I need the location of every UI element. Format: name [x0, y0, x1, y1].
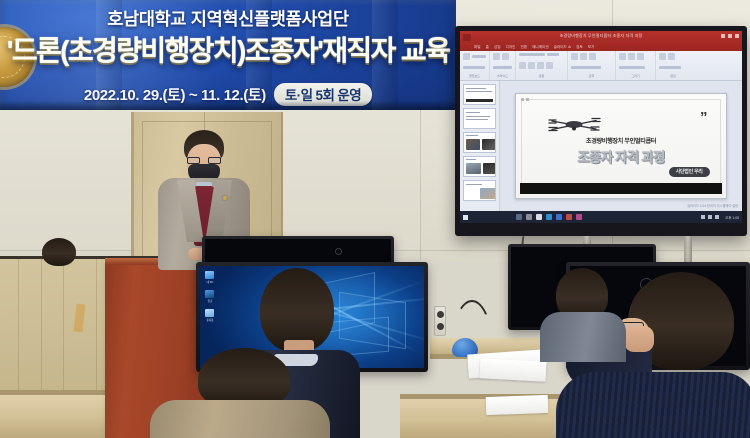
banner-organization: 호남대학교 지역혁신플랫폼사업단	[0, 6, 456, 31]
taskbar-app-icon[interactable]	[536, 214, 542, 220]
slide-quote-mark: ”	[700, 113, 708, 124]
ribbon-group-label: 글꼴	[519, 74, 564, 78]
ribbon-tab[interactable]: 디자인	[506, 45, 516, 50]
status-bar-note: 슬라이드 1/24 한국어 디스플레이 설정	[687, 204, 738, 209]
ribbon-group-label: 클립보드	[463, 74, 486, 78]
maximize-icon[interactable]	[728, 34, 732, 38]
ribbon-tab[interactable]: 보기	[588, 45, 595, 50]
glasses-icon	[187, 157, 221, 164]
ribbon-group-label: 단락	[571, 74, 612, 78]
student-front-left	[150, 348, 330, 438]
desktop-icon-hangul[interactable]: 한글	[205, 290, 215, 303]
handout-papers	[480, 358, 547, 381]
ribbon-tab[interactable]: 홈	[486, 45, 489, 50]
student-torso	[150, 400, 330, 438]
ribbon-tab[interactable]: 검토	[576, 45, 583, 50]
taskbar-clock[interactable]: 오후 1:05	[725, 215, 739, 220]
display-screen[interactable]: 초경량비행장치 무인멀티콥터 조종자 자격 과정 파일 홈 삽입 디자인 전환 …	[460, 31, 742, 223]
shapes-icon[interactable]	[619, 53, 626, 60]
ribbon-tab[interactable]: 슬라이드 쇼	[554, 45, 572, 50]
ribbon-group-paragraph[interactable]: 단락	[568, 51, 616, 80]
power-outlet	[434, 306, 446, 336]
desk-cable	[452, 300, 492, 342]
ribbon-tabs[interactable]: 파일 홈 삽입 디자인 전환 애니메이션 슬라이드 쇼 검토 보기	[460, 43, 742, 51]
ribbon-tab[interactable]: 삽입	[494, 45, 501, 50]
slide-corner-dots	[521, 98, 529, 101]
layout-icon[interactable]	[502, 53, 509, 60]
powerpoint-file-icon[interactable]	[463, 34, 471, 41]
underline-icon[interactable]	[537, 62, 544, 69]
slide-subtitle: 초경량비행장치 무인멀티콥터	[516, 136, 727, 145]
start-button[interactable]	[460, 211, 470, 223]
ribbon-tab[interactable]: 애니메이션	[532, 45, 549, 50]
find-icon[interactable]	[659, 53, 666, 60]
ime-icon[interactable]	[715, 215, 719, 219]
ribbon-tab[interactable]: 전환	[520, 45, 527, 50]
taskbar-app-icon[interactable]	[546, 214, 552, 220]
slide-thumbnail[interactable]	[463, 156, 496, 177]
lapel-pin	[223, 196, 227, 200]
taskbar-app-icon[interactable]	[576, 214, 582, 220]
drone-graphic	[543, 114, 605, 136]
indent-icon[interactable]	[589, 53, 596, 60]
event-banner: 호남대학교 지역혁신플랫폼사업단 '드론(초경량비행장치)조종자'재직자 교육 …	[0, 0, 456, 110]
minimize-icon[interactable]	[721, 34, 725, 38]
desktop-icon-label: 내 PC	[205, 280, 215, 284]
display-mount-arm	[684, 236, 692, 262]
ribbon-group-slides[interactable]: 슬라이드	[490, 51, 516, 80]
student-right-far	[540, 268, 626, 354]
classroom-photo-scene: 호남대학교 지역혁신플랫폼사업단 '드론(초경량비행장치)조종자'재직자 교육 …	[0, 0, 750, 438]
taskbar-app-icon[interactable]	[566, 214, 572, 220]
italic-icon[interactable]	[528, 62, 535, 69]
ribbon-tab[interactable]: 파일	[474, 45, 481, 50]
student-far-left	[36, 238, 80, 268]
slide-thumbnail-pane[interactable]	[460, 81, 500, 211]
replace-icon[interactable]	[668, 53, 675, 60]
slide-organization-badge: 사단법인 우리	[669, 167, 710, 177]
arrange-icon[interactable]	[628, 53, 635, 60]
ribbon-toolbar[interactable]: 클립보드 슬라이드 글꼴 단락	[460, 51, 742, 81]
window-controls[interactable]	[721, 34, 739, 38]
student-hand	[624, 326, 654, 352]
windows-taskbar[interactable]: 오후 1:05	[460, 211, 742, 223]
quick-styles-icon[interactable]	[637, 53, 644, 60]
ribbon-group-editing[interactable]: 편집	[656, 51, 690, 80]
ribbon-group-font[interactable]: 글꼴	[516, 51, 568, 80]
slide-thumbnail[interactable]	[463, 84, 496, 105]
current-slide[interactable]: ” 초경량비행장치 무인멀티콥터 조종자 자격 과정 사단법인 우리	[515, 93, 728, 200]
taskbar-app-icons[interactable]	[516, 214, 582, 220]
close-icon[interactable]	[735, 34, 739, 38]
taskbar-app-icon[interactable]	[556, 214, 562, 220]
windows-icon[interactable]	[463, 215, 468, 220]
powerpoint-title-text: 초경량비행장치 무인멀티콥터 조종자 자격 과정	[560, 33, 643, 39]
ribbon-group-label: 그리기	[619, 74, 652, 78]
slide-thumbnail[interactable]	[463, 108, 496, 129]
desktop-icon-recycle-bin[interactable]: 휴지통	[205, 309, 215, 322]
desktop-icon-label: 한글	[205, 299, 215, 303]
student-torso	[540, 312, 626, 362]
banner-date-row: 2022.10. 29.(토) ~ 11. 12.(토) 토·일 5회 운영	[0, 83, 456, 106]
volume-icon[interactable]	[708, 215, 712, 219]
ribbon-group-drawing[interactable]: 그리기	[616, 51, 656, 80]
system-tray[interactable]: 오후 1:05	[701, 215, 739, 220]
ribbon-group-label: 슬라이드	[493, 74, 512, 78]
new-slide-icon[interactable]	[493, 53, 500, 60]
slide-thumbnail[interactable]	[463, 180, 496, 201]
paste-icon[interactable]	[463, 53, 470, 60]
font-color-icon[interactable]	[546, 62, 553, 69]
monitor-power-indicator	[335, 248, 342, 255]
slide-thumbnail[interactable]	[463, 132, 496, 153]
banner-date-range: 2022.10. 29.(토) ~ 11. 12.(토)	[84, 84, 266, 105]
ribbon-group-clipboard[interactable]: 클립보드	[460, 51, 490, 80]
wall-display[interactable]: 초경량비행장치 무인멀티콥터 조종자 자격 과정 파일 홈 삽입 디자인 전환 …	[455, 26, 747, 236]
student-head	[42, 238, 76, 266]
slide-footer-bar	[520, 183, 723, 194]
bold-icon[interactable]	[519, 62, 526, 69]
slide-editing-stage[interactable]: ” 초경량비행장치 무인멀티콥터 조종자 자격 과정 사단법인 우리	[500, 81, 742, 211]
bullets-icon[interactable]	[571, 53, 578, 60]
slide-title: 조종자 자격 과정	[516, 146, 727, 166]
banner-title: '드론(초경량비행장치)조종자'재직자 교육	[0, 36, 456, 66]
handout-papers	[486, 395, 549, 415]
powerpoint-titlebar: 초경량비행장치 무인멀티콥터 조종자 자격 과정	[460, 31, 742, 43]
taskbar-app-icon[interactable]	[526, 214, 532, 220]
numbering-icon[interactable]	[580, 53, 587, 60]
desktop-icon-my-pc[interactable]: 내 PC	[205, 271, 215, 284]
ribbon-group-label: 편집	[659, 74, 687, 78]
network-icon[interactable]	[701, 215, 705, 219]
banner-schedule-badge: 토·일 5회 운영	[274, 83, 372, 106]
student-torso	[556, 372, 750, 438]
taskbar-app-icon[interactable]	[516, 214, 522, 220]
desktop-icon-label: 휴지통	[205, 318, 215, 322]
